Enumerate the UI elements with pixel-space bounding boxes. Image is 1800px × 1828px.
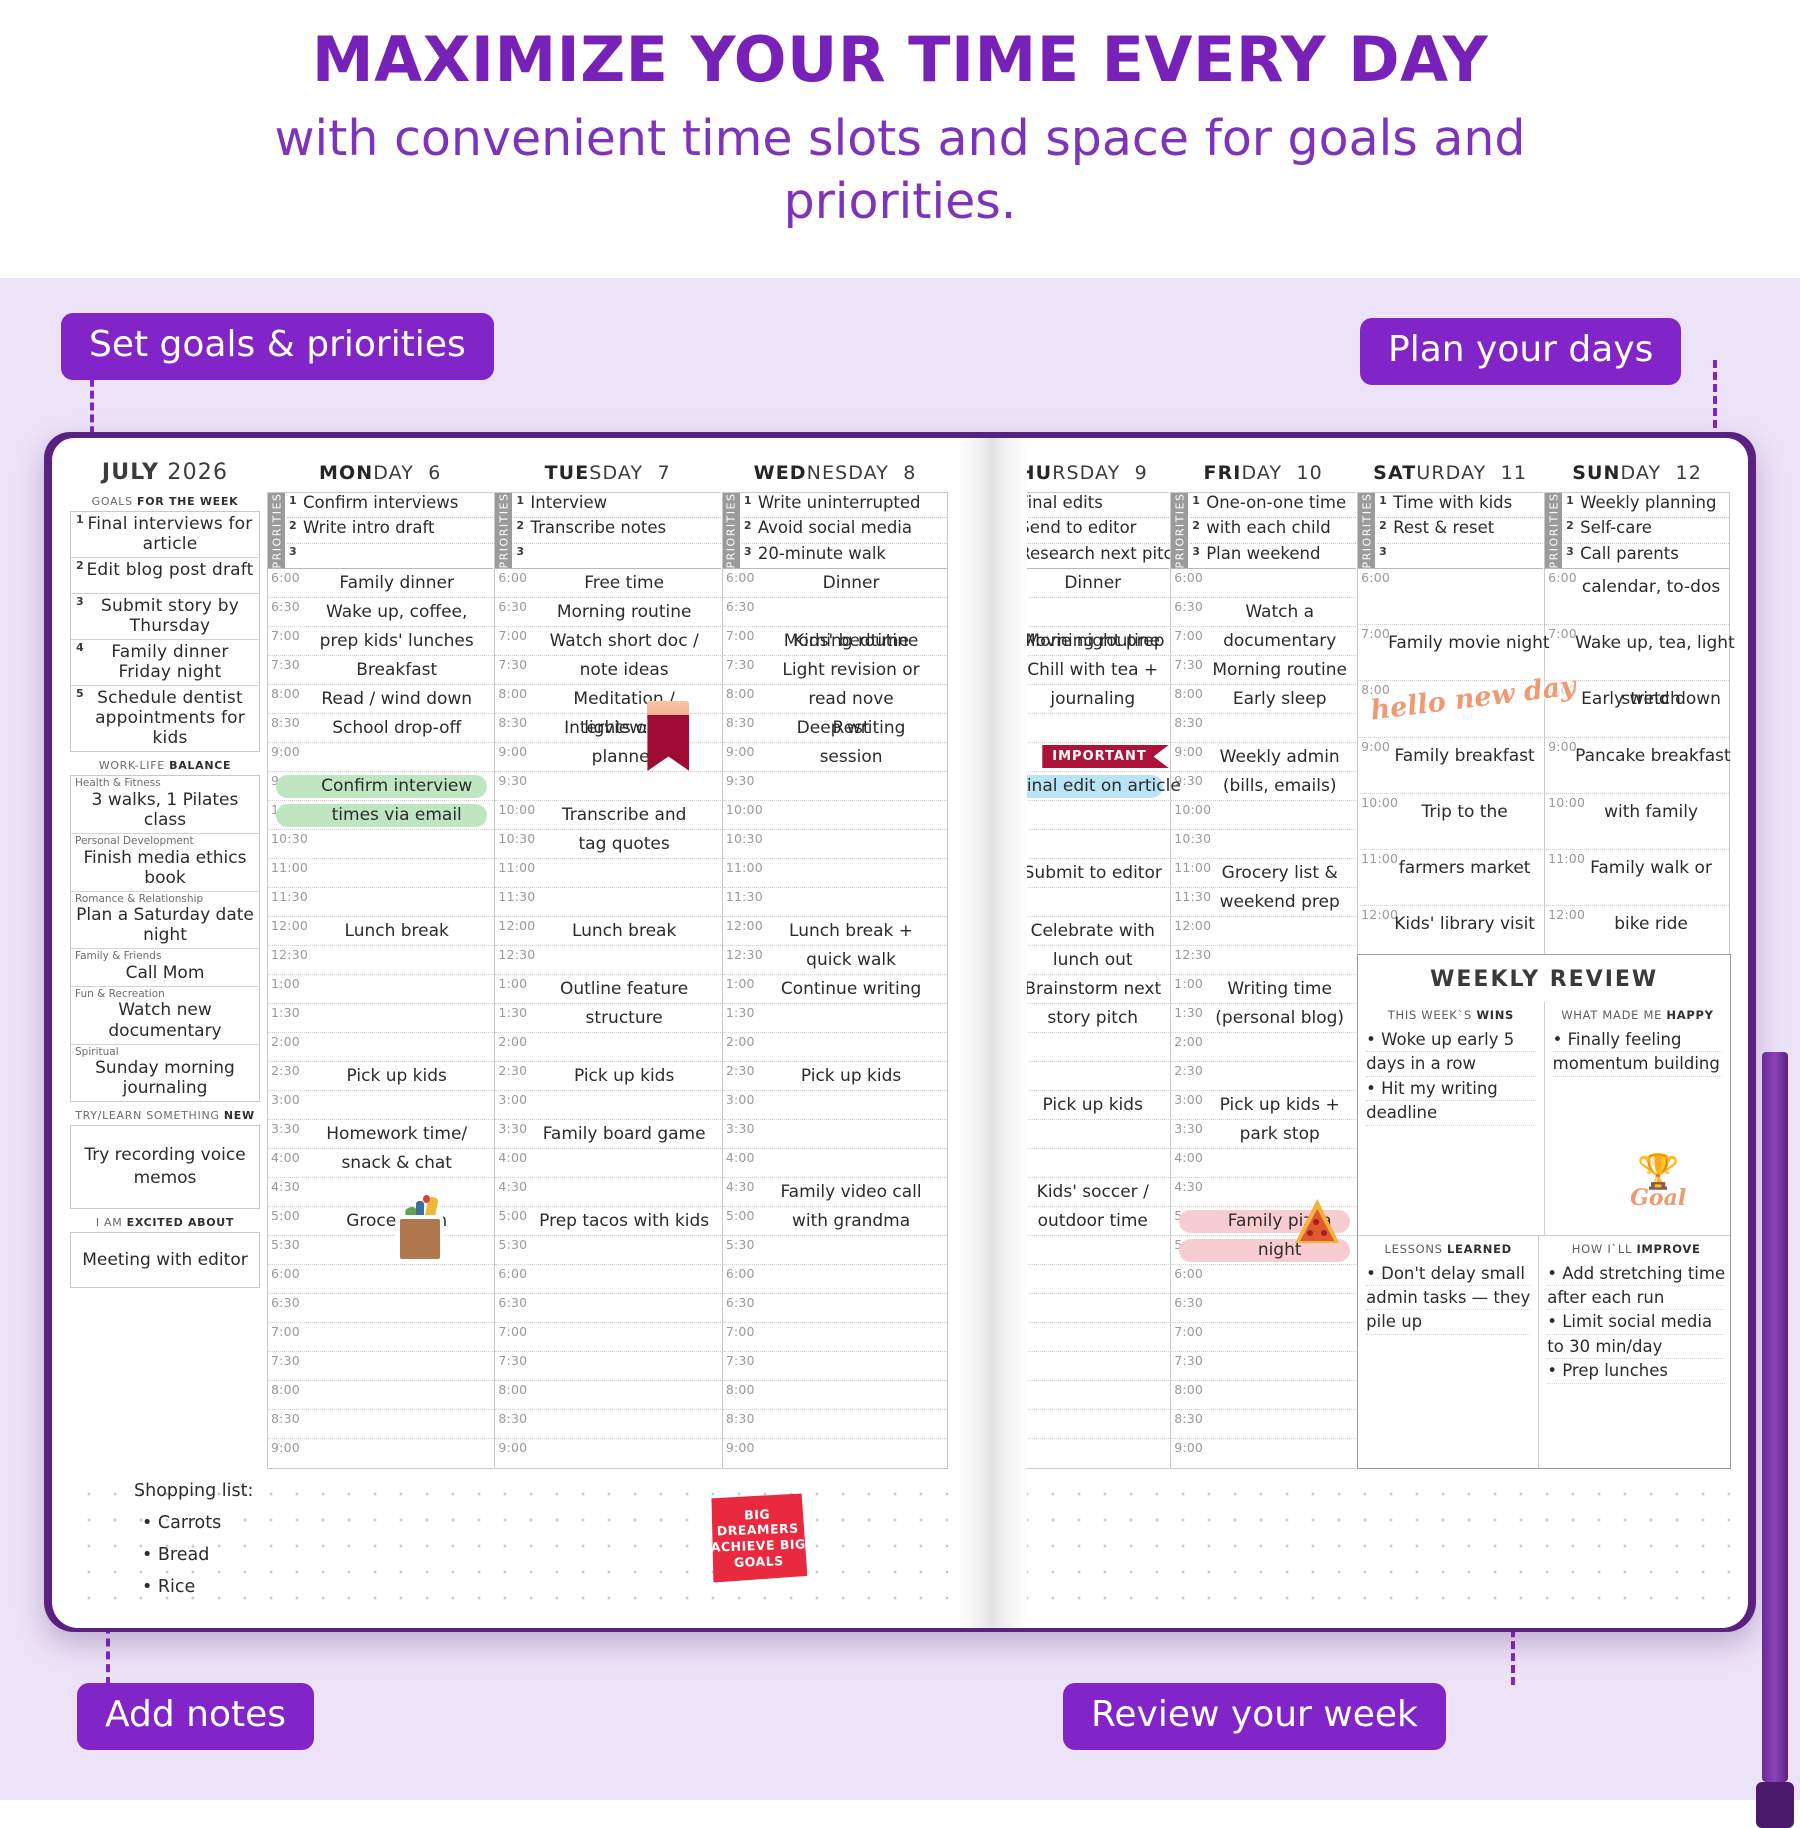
priority-line[interactable]: 2with each child <box>1190 518 1356 543</box>
calendar-event[interactable]: Writing time <box>1205 981 1354 998</box>
calendar-event[interactable]: snack & chat <box>302 1155 491 1172</box>
review-line: pile up <box>1366 1310 1530 1334</box>
priorities-tab: PRIORITIES <box>1358 493 1375 568</box>
calendar-event[interactable]: planner <box>529 749 718 766</box>
time-slot[interactable]: 3:30 <box>984 1120 1169 1149</box>
priority-text: Write intro draft <box>303 519 491 536</box>
review-line: to 30 min/day <box>1547 1335 1725 1359</box>
calendar-event[interactable]: Pick up kids <box>529 1068 718 1085</box>
time-slot[interactable]: 12:00 <box>1171 917 1356 946</box>
balance-list[interactable]: Health & Fitness3 walks, 1 Pilates class… <box>70 775 260 1102</box>
calendar-event[interactable]: times via email <box>302 807 491 824</box>
calendar-event[interactable]: lights out <box>529 720 718 737</box>
review-line: • Woke up early 5 <box>1366 1028 1536 1052</box>
calendar-event[interactable]: Meditation / <box>529 691 718 708</box>
calendar-event[interactable]: read nove <box>757 691 945 708</box>
slot-time-label: 9:00 <box>498 744 527 759</box>
review-line: • Add stretching time <box>1547 1262 1725 1286</box>
priorities-block[interactable]: PRIORITIES1Confirm interviews2Write intr… <box>268 493 493 569</box>
calendar-event[interactable]: Kids' library visit <box>1388 916 1541 933</box>
day-abbr: MON <box>319 462 373 484</box>
time-slot[interactable]: 6:00 <box>723 1265 947 1294</box>
calendar-event[interactable]: bike ride <box>1575 916 1727 933</box>
goals-heading-bold: FOR THE WEEK <box>137 495 238 508</box>
goal-row[interactable]: 4Family dinner Friday night <box>71 640 259 686</box>
calendar-event[interactable]: School drop-off <box>302 720 491 737</box>
time-slot[interactable]: 1:30 <box>268 1004 493 1033</box>
review-quadrant-heading: LESSONS LEARNED <box>1366 1238 1530 1262</box>
time-slot[interactable]: 10:00 <box>1171 801 1356 830</box>
time-slot[interactable]: 10:30 <box>268 830 493 859</box>
calendar-event[interactable]: Family video call <box>757 1184 945 1201</box>
priorities-block[interactable]: PRIORITIES1Write uninterrupted2Avoid soc… <box>723 493 947 569</box>
slot-time-label: 8:00 <box>1174 686 1203 701</box>
day-header: SUNDAY 12 <box>1544 452 1730 492</box>
calendar-event[interactable]: Family movie night <box>1388 635 1541 652</box>
notes-area[interactable]: Shopping list:• Carrots• Bread• RiceBIG … <box>70 1473 948 1618</box>
day-rest: DAY <box>373 462 414 484</box>
time-slot[interactable]: 11:30 <box>984 888 1169 917</box>
slot-time-label: 2:30 <box>726 1063 755 1078</box>
calendar-event[interactable]: Breakfast <box>302 662 491 679</box>
time-slot[interactable]: 8:30 <box>984 714 1169 743</box>
calendar-event[interactable]: weekend prep <box>1205 894 1354 911</box>
time-slot[interactable]: 8:30 <box>495 1410 720 1439</box>
calendar-event[interactable]: Morning routine <box>1205 662 1354 679</box>
time-slot[interactable]: 6:00 <box>1171 1265 1356 1294</box>
notes-area-right[interactable] <box>982 1473 1730 1618</box>
goal-row[interactable]: 3Submit story by Thursday <box>71 594 259 640</box>
time-slot[interactable]: 3:00 <box>495 1091 720 1120</box>
goal-row[interactable]: 5Schedule dentist appointments for kids <box>71 686 259 751</box>
slot-time-label: 8:30 <box>271 1411 300 1426</box>
time-slot[interactable]: 12:30 <box>268 946 493 975</box>
priorities-block[interactable]: PRIORITIES1One-on-one time2with each chi… <box>1171 493 1356 569</box>
calendar-event[interactable]: Final edit on article <box>1018 778 1167 795</box>
priority-line[interactable]: 2Transcribe notes <box>514 518 720 543</box>
time-slot[interactable]: 7:30 <box>984 1352 1169 1381</box>
calendar-event[interactable]: Family walk or <box>1575 860 1727 877</box>
goal-row[interactable]: 1Final interviews for article <box>71 512 259 558</box>
time-slot[interactable]: 4:30 <box>495 1178 720 1207</box>
slot-time-label: 10:00 <box>726 802 763 817</box>
calendar-event[interactable]: Brainstorm next <box>1018 981 1167 998</box>
calendar-event[interactable]: Kids' soccer / <box>1018 1184 1167 1201</box>
time-slot[interactable]: 6:30 <box>723 598 947 627</box>
calendar-event[interactable]: Wake up, coffee, <box>302 604 491 621</box>
time-slot[interactable]: 8:30 <box>268 1410 493 1439</box>
time-slot[interactable]: 9:00 <box>984 1439 1169 1468</box>
time-slot[interactable]: 5:30 <box>723 1236 947 1265</box>
priority-line[interactable]: 1Write uninterrupted <box>742 493 947 518</box>
calendar-event[interactable]: note ideas <box>529 662 718 679</box>
calendar-event[interactable]: Homework time/ <box>302 1126 491 1143</box>
priority-line[interactable]: 1Weekly planning <box>1564 493 1729 518</box>
priorities-tab: PRIORITIES <box>495 493 512 568</box>
time-slot[interactable]: 10:30 <box>723 830 947 859</box>
time-slot[interactable]: 7:00 <box>1171 1323 1356 1352</box>
calendar-event[interactable]: Early wind down <box>1575 691 1727 708</box>
day-rest: DAY <box>1241 462 1282 484</box>
balance-text: Finish media ethics book <box>75 848 255 888</box>
time-slot[interactable]: 4:00 <box>984 1149 1169 1178</box>
priority-line[interactable]: 2Avoid social media <box>742 518 947 543</box>
calendar-event[interactable]: Rest <box>757 720 945 737</box>
time-slot[interactable]: 1:00 <box>268 975 493 1004</box>
calendar-event[interactable]: farmers market <box>1388 860 1541 877</box>
calendar-event[interactable]: Read / wind down <box>302 691 491 708</box>
slot-time-label: 9:00 <box>726 744 755 759</box>
priority-text: Send to editor <box>1019 519 1167 536</box>
priority-text: Write uninterrupted <box>758 494 945 511</box>
priority-number: 3 <box>744 545 752 558</box>
calendar-event[interactable]: outdoor time <box>1018 1213 1167 1230</box>
calendar-event[interactable]: Kids' bedtime <box>757 633 945 650</box>
time-slot[interactable]: 8:30 <box>1171 714 1356 743</box>
slot-time-label: 6:30 <box>498 599 527 614</box>
time-slot[interactable]: 8:30 <box>1171 1410 1356 1439</box>
calendar-event[interactable]: Trip to the <box>1388 804 1541 821</box>
page-title: MAXIMIZE YOUR TIME EVERY DAY <box>312 26 1488 94</box>
day-date: 9 <box>1135 462 1148 484</box>
calendar-event[interactable]: story pitch <box>1018 1010 1167 1027</box>
time-slot[interactable]: 6:00 <box>1171 569 1356 598</box>
calendar-event[interactable]: session <box>757 749 945 766</box>
time-slot[interactable]: 6:00 <box>984 1265 1169 1294</box>
calendar-event[interactable]: Pick up kids <box>302 1068 491 1085</box>
review-quadrant[interactable]: THIS WEEK`S WINS• Woke up early 5days in… <box>1358 1002 1544 1235</box>
time-slot[interactable]: 4:00 <box>723 1149 947 1178</box>
time-slot[interactable]: 5:30 <box>984 1236 1169 1265</box>
calendar-event[interactable]: Confirm interview <box>302 778 491 795</box>
goal-number: 5 <box>76 687 84 700</box>
calendar-event[interactable]: Pick up kids <box>1018 1097 1167 1114</box>
calendar-event[interactable]: quick walk <box>757 952 945 969</box>
review-line: • Don't delay small <box>1366 1262 1530 1286</box>
slot-time-label: 8:30 <box>1174 1411 1203 1426</box>
weekly-review-title: WEEKLY REVIEW <box>1358 955 1730 1002</box>
calendar-event[interactable]: journaling <box>1018 691 1167 708</box>
slot-time-label: 12:30 <box>498 947 535 962</box>
priority-number: 3 <box>289 545 297 558</box>
time-slot[interactable]: 8:30 <box>984 1410 1169 1439</box>
time-slot[interactable]: 9:00 <box>495 1439 720 1468</box>
time-slot[interactable]: 6:30 <box>268 1294 493 1323</box>
priority-text: Rest & reset <box>1393 519 1541 536</box>
time-slot[interactable]: 7:00 <box>984 1323 1169 1352</box>
calendar-event[interactable]: Continue writing <box>757 981 945 998</box>
calendar-event[interactable]: lunch out <box>1018 952 1167 969</box>
calendar-event[interactable]: tag quotes <box>529 836 718 853</box>
calendar-event[interactable]: Pick up kids + <box>1205 1097 1354 1114</box>
calendar-event[interactable]: Watch short doc / <box>529 633 718 650</box>
day-body: PRIORITIES1One-on-one time2with each chi… <box>1170 492 1356 1469</box>
priority-number: 1 <box>1005 494 1013 507</box>
time-slot[interactable]: 6:30 <box>495 1294 720 1323</box>
planner-spread: JULY 2026 GOALS FOR THE WEEK 1Final inte… <box>52 438 1748 1628</box>
calendar-event[interactable]: Celebrate with <box>1018 923 1167 940</box>
slot-time-label: 9:30 <box>726 773 755 788</box>
balance-row[interactable]: Fun & RecreationWatch new documentary <box>71 987 259 1045</box>
slot-time-label: 2:00 <box>726 1034 755 1049</box>
slot-time-label: 6:00 <box>498 570 527 585</box>
calendar-event[interactable]: Transcribe and <box>529 807 718 824</box>
time-slot[interactable]: 11:00 <box>723 859 947 888</box>
time-slot[interactable]: 4:00 <box>495 1149 720 1178</box>
priority-number: 2 <box>1379 519 1387 532</box>
time-slot[interactable]: 11:00 <box>268 859 493 888</box>
time-slot[interactable]: 8:30 <box>723 1410 947 1439</box>
goal-text: Submit story by Thursday <box>75 596 255 636</box>
slot-time-label: 6:30 <box>726 599 755 614</box>
slot-time-label: 6:30 <box>498 1295 527 1310</box>
excited-field[interactable]: Meeting with editor <box>70 1232 260 1288</box>
priority-line[interactable]: 1Interview <box>514 493 720 518</box>
calendar-event[interactable]: Lunch break + <box>757 923 945 940</box>
time-slot[interactable]: 6:00 <box>495 1265 720 1294</box>
calendar-event[interactable]: prep kids' lunches <box>302 633 491 650</box>
review-quadrant-heading: THIS WEEK`S WINS <box>1366 1004 1536 1028</box>
priority-line[interactable]: 3 <box>1377 544 1543 569</box>
balance-category: Family & Friends <box>75 951 255 963</box>
time-slot[interactable]: 8:00 <box>495 1381 720 1410</box>
time-slot[interactable]: 5:30 <box>495 1236 720 1265</box>
time-slot[interactable]: 2:00 <box>268 1033 493 1062</box>
balance-row[interactable]: Romance & RelationshipPlan a Saturday da… <box>71 892 259 950</box>
time-slot[interactable]: 7:30 <box>1171 1352 1356 1381</box>
time-slot[interactable]: 2:00 <box>495 1033 720 1062</box>
time-slot[interactable]: 9:00 <box>268 743 493 772</box>
priority-line[interactable]: 3Plan weekend <box>1190 544 1356 569</box>
calendar-event[interactable]: Free time <box>529 575 718 592</box>
review-line: days in a row <box>1366 1052 1536 1076</box>
priority-line[interactable]: 1Final edits <box>1003 493 1169 518</box>
balance-row[interactable]: Health & Fitness3 walks, 1 Pilates class <box>71 776 259 834</box>
time-slot[interactable]: 9:30 <box>495 772 720 801</box>
goals-section-heading: GOALS FOR THE WEEK <box>70 495 260 508</box>
time-slot[interactable]: 9:30 <box>723 772 947 801</box>
balance-row[interactable]: SpiritualSunday morning journaling <box>71 1045 259 1102</box>
balance-category: Personal Development <box>75 836 255 848</box>
calendar-event[interactable]: Chill with tea + <box>1018 662 1167 679</box>
calendar-event[interactable]: Outline feature <box>529 981 718 998</box>
priority-line[interactable]: 3 <box>514 544 720 569</box>
time-slot[interactable]: 7:30 <box>495 1352 720 1381</box>
priority-line[interactable]: 3Call parents <box>1564 544 1729 569</box>
calendar-event[interactable]: Grocery list & <box>1205 865 1354 882</box>
review-quadrant[interactable]: HOW I`LL IMPROVE• Add stretching timeaft… <box>1538 1236 1733 1469</box>
time-slot[interactable]: 11:00 <box>495 859 720 888</box>
priority-line[interactable]: 1One-on-one time <box>1190 493 1356 518</box>
calendar-event[interactable]: with grandma <box>757 1213 945 1230</box>
time-slot[interactable]: 7:00 <box>268 1323 493 1352</box>
time-slot[interactable]: 8:00 <box>1171 1381 1356 1410</box>
priority-line[interactable]: 2Self-care <box>1564 518 1729 543</box>
calendar-event[interactable]: Early sleep <box>1205 691 1354 708</box>
time-slot[interactable]: 6:30 <box>984 1294 1169 1323</box>
calendar-event[interactable]: Dinner <box>1018 575 1167 592</box>
slot-time-label: 6:00 <box>726 1266 755 1281</box>
callout-add-notes: Add notes <box>77 1683 314 1750</box>
slot-time-label: 7:30 <box>726 1353 755 1368</box>
calendar-event[interactable]: Weekly admin <box>1205 749 1354 766</box>
priorities-block[interactable]: PRIORITIES1Final edits2Send to editor3Re… <box>984 493 1169 569</box>
review-quadrant[interactable]: LESSONS LEARNED• Don't delay smalladmin … <box>1358 1236 1538 1469</box>
slot-time-label: 7:30 <box>987 1353 1016 1368</box>
goal-number: 2 <box>76 559 84 572</box>
priorities-block[interactable]: PRIORITIES1Interview2Transcribe notes3 <box>495 493 720 569</box>
goal-row[interactable]: 2Edit blog post draft <box>71 558 259 594</box>
priorities-block[interactable]: PRIORITIES1Time with kids2Rest & reset3 <box>1358 493 1543 569</box>
time-slot[interactable]: 7:00 <box>723 1323 947 1352</box>
priority-line[interactable]: 1Time with kids <box>1377 493 1543 518</box>
calendar-event[interactable]: with family <box>1575 804 1727 821</box>
time-slot[interactable]: 3:00 <box>723 1091 947 1120</box>
review-quadrant-heading: HOW I`LL IMPROVE <box>1547 1238 1725 1262</box>
time-slot[interactable]: 6:00 <box>268 1265 493 1294</box>
balance-row[interactable]: Family & FriendsCall Mom <box>71 949 259 987</box>
time-slot[interactable]: 8:00 <box>723 1381 947 1410</box>
slot-time-label: 10:30 <box>987 831 1024 846</box>
day-date: 6 <box>428 462 441 484</box>
calendar-event[interactable]: calendar, to-dos <box>1575 579 1727 596</box>
time-slot[interactable]: 5:30 <box>268 1236 493 1265</box>
year-value: 2026 <box>167 460 228 485</box>
calendar-event[interactable]: (personal blog) <box>1205 1010 1354 1027</box>
notes-item: • Carrots <box>142 1515 221 1533</box>
time-slot[interactable]: 2:30 <box>1171 1062 1356 1091</box>
calendar-event[interactable]: Watch a <box>1205 604 1354 621</box>
time-slot[interactable]: 3:30 <box>723 1120 947 1149</box>
calendar-event[interactable]: Lunch break <box>302 923 491 940</box>
try-new-field[interactable]: Try recording voice memos <box>70 1125 260 1209</box>
day-column-tue: TUESDAY 7PRIORITIES1Interview2Transcribe… <box>493 452 720 1469</box>
slot-time-label: 1:30 <box>498 1005 527 1020</box>
time-slot[interactable]: 4:00 <box>1171 1149 1356 1178</box>
goals-list[interactable]: 1Final interviews for article2Edit blog … <box>70 511 260 752</box>
pizza-sticker <box>1295 1199 1339 1243</box>
day-column-thu: THURSDAY 9PRIORITIES1Final edits2Send to… <box>982 452 1169 1469</box>
priority-line[interactable]: 1Confirm interviews <box>287 493 493 518</box>
planner-book: JULY 2026 GOALS FOR THE WEEK 1Final inte… <box>44 432 1756 1632</box>
priority-number: 1 <box>744 494 752 507</box>
time-slot[interactable]: 10:30 <box>984 830 1169 859</box>
calendar-event[interactable]: Pancake breakfast <box>1575 748 1727 765</box>
time-slot[interactable]: 2:30 <box>984 1062 1169 1091</box>
slot-time-label: 6:00 <box>1174 1266 1203 1281</box>
calendar-event[interactable]: Light revision or <box>757 662 945 679</box>
left-page: JULY 2026 GOALS FOR THE WEEK 1Final inte… <box>70 452 948 1618</box>
slot-time-label: 1:30 <box>987 1005 1016 1020</box>
time-slot[interactable]: 7:30 <box>723 1352 947 1381</box>
try-new-heading: TRY/LEARN SOMETHING NEW <box>70 1109 260 1122</box>
priority-text: Time with kids <box>1393 494 1541 511</box>
priority-text: Interview <box>530 494 718 511</box>
slot-time-label: 11:00 <box>498 860 535 875</box>
calendar-event[interactable]: Lunch break <box>529 923 718 940</box>
time-slot[interactable]: 4:30 <box>268 1178 493 1207</box>
time-slot[interactable]: 3:00 <box>268 1091 493 1120</box>
time-slot[interactable]: 2:00 <box>723 1033 947 1062</box>
slot-time-label: 9:00 <box>987 744 1016 759</box>
calendar-event[interactable]: Prep tacos with kids <box>529 1213 718 1230</box>
time-slot[interactable]: 12:30 <box>1171 946 1356 975</box>
elastic-band <box>1762 1052 1788 1782</box>
time-slot[interactable]: 10:30 <box>1171 830 1356 859</box>
slot-time-label: 5:30 <box>271 1237 300 1252</box>
time-slot[interactable]: 9:00 <box>268 1439 493 1468</box>
priority-number: 1 <box>1192 494 1200 507</box>
priority-line[interactable]: 2Rest & reset <box>1377 518 1543 543</box>
time-slot[interactable]: 8:00 <box>268 1381 493 1410</box>
time-slot[interactable]: 9:00 <box>723 1439 947 1468</box>
time-slot[interactable]: 6:30 <box>723 1294 947 1323</box>
time-slot[interactable]: 11:30 <box>268 888 493 917</box>
review-line: • Limit social media <box>1547 1310 1725 1334</box>
time-slot[interactable]: 7:00 <box>495 1323 720 1352</box>
time-slot[interactable]: 7:30 <box>268 1352 493 1381</box>
calendar-event[interactable]: Family dinner <box>302 575 491 592</box>
time-slot[interactable]: 2:00 <box>984 1033 1169 1062</box>
time-slot[interactable]: 10:00 <box>984 801 1169 830</box>
calendar-event[interactable]: Submit to editor <box>1018 865 1167 882</box>
priorities-block[interactable]: PRIORITIES1Weekly planning2Self-care3Cal… <box>1545 493 1729 569</box>
time-slot[interactable]: 6:30 <box>1171 1294 1356 1323</box>
slot-time-label: 5:30 <box>726 1237 755 1252</box>
slot-time-label: 7:00 <box>987 628 1016 643</box>
time-slot[interactable]: 1:30 <box>723 1004 947 1033</box>
try-heading-light: TRY/LEARN SOMETHING <box>75 1109 219 1122</box>
priority-line[interactable]: 3Research next pitch <box>1003 544 1169 569</box>
priority-line[interactable]: 2Write intro draft <box>287 518 493 543</box>
calendar-event[interactable]: Family breakfast <box>1388 748 1541 765</box>
calendar-event[interactable]: documentary <box>1205 633 1354 650</box>
day-date: 8 <box>903 462 916 484</box>
priority-line[interactable]: 2Send to editor <box>1003 518 1169 543</box>
calendar-event[interactable]: structure <box>529 1010 718 1027</box>
time-slot[interactable]: 9:00 <box>1171 1439 1356 1468</box>
slot-time-label: 4:30 <box>271 1179 300 1194</box>
slot-time-label: 1:30 <box>1174 1005 1203 1020</box>
slot-time-label: 11:30 <box>271 889 308 904</box>
calendar-event[interactable]: Family board game <box>529 1126 718 1143</box>
priority-line[interactable]: 320-minute walk <box>742 544 947 569</box>
review-head-bold: WINS <box>1476 1008 1514 1022</box>
time-slot[interactable]: 6:00 <box>1358 569 1543 625</box>
slot-time-label: 3:00 <box>271 1092 300 1107</box>
time-slot[interactable]: 11:30 <box>723 888 947 917</box>
balance-text: 3 walks, 1 Pilates class <box>75 790 255 830</box>
slot-time-label: 2:30 <box>987 1063 1016 1078</box>
time-slot[interactable]: 2:00 <box>1171 1033 1356 1062</box>
time-slot[interactable]: 12:30 <box>495 946 720 975</box>
calendar-event[interactable]: night <box>1205 1242 1354 1259</box>
calendar-event[interactable]: Morning routine <box>529 604 718 621</box>
calendar-event[interactable]: Pick up kids <box>757 1068 945 1085</box>
priority-line[interactable]: 3 <box>287 544 493 569</box>
calendar-event[interactable]: Movie night prep <box>1018 633 1167 650</box>
calendar-event[interactable]: park stop <box>1205 1126 1354 1143</box>
calendar-event[interactable]: Wake up, tea, light <box>1575 635 1727 652</box>
time-slot[interactable]: 6:30 <box>984 598 1169 627</box>
balance-row[interactable]: Personal DevelopmentFinish media ethics … <box>71 834 259 892</box>
try-heading-bold: NEW <box>224 1109 255 1122</box>
calendar-event[interactable]: (bills, emails) <box>1205 778 1354 795</box>
time-slot[interactable]: 8:00 <box>984 1381 1169 1410</box>
time-slot[interactable]: 10:00 <box>723 801 947 830</box>
calendar-event[interactable]: Dinner <box>757 575 945 592</box>
time-slot[interactable]: 11:30 <box>495 888 720 917</box>
